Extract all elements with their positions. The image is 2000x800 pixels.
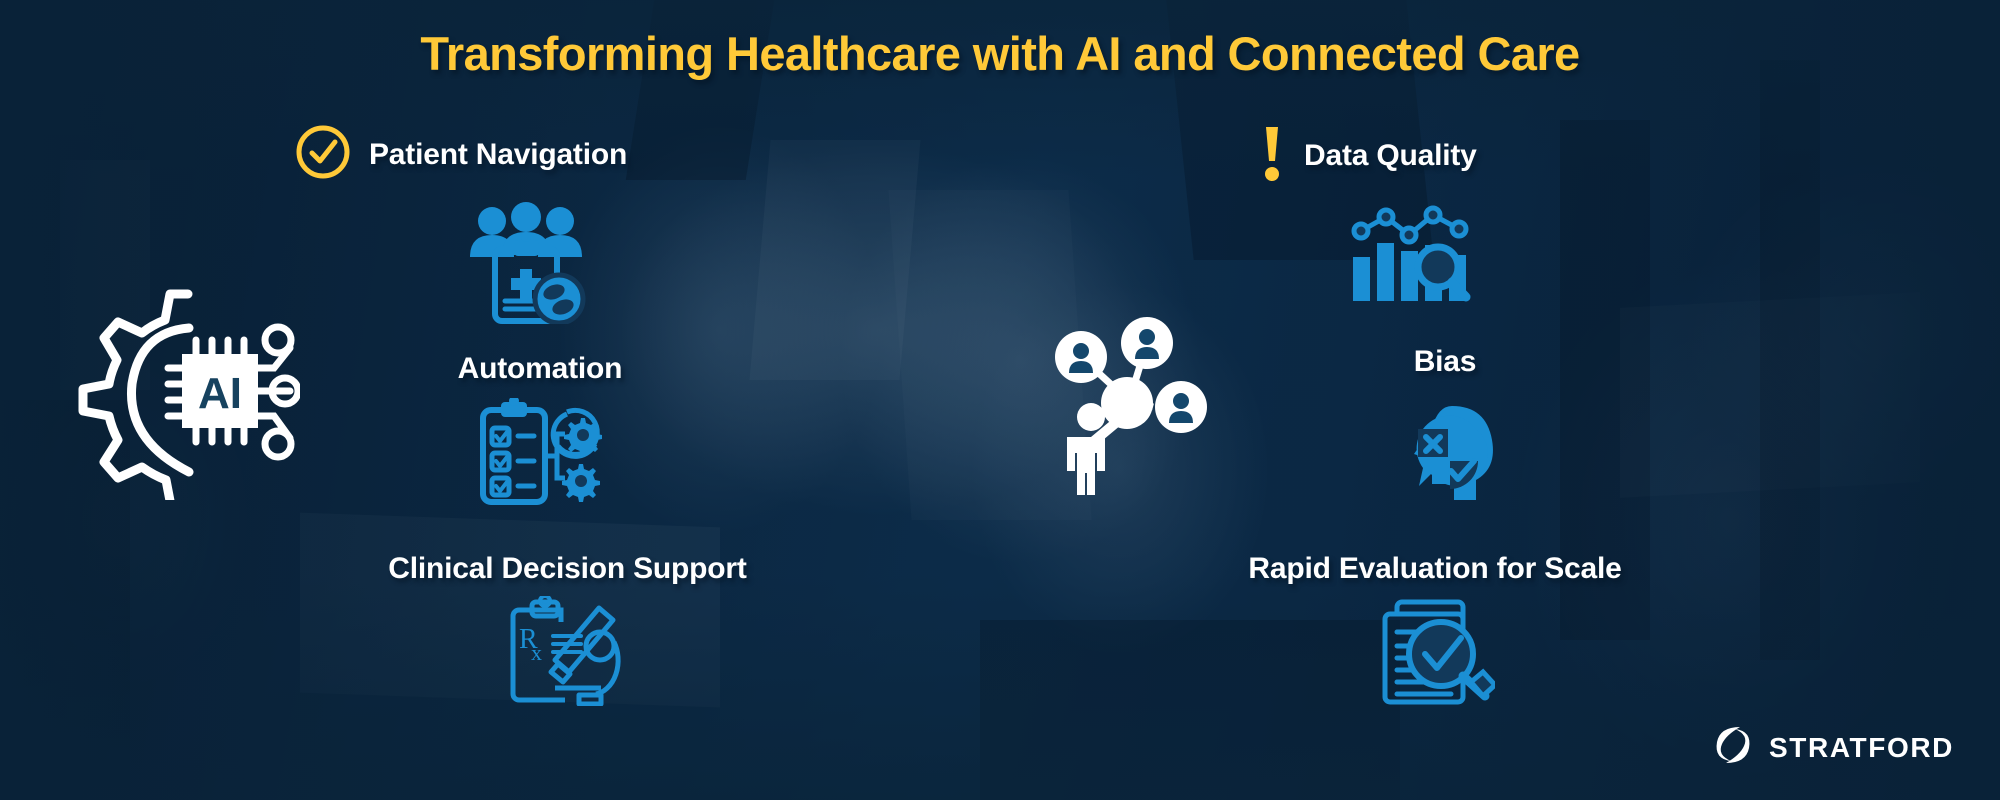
checklist-gears-icon [475, 398, 605, 513]
background-vignette [0, 0, 2000, 800]
ai-gear-chip-icon: AI [70, 280, 300, 505]
exclamation-mark-icon [1258, 124, 1286, 187]
connected-care-network-icon [1035, 315, 1220, 500]
bar-chart-magnifier-icon [1341, 205, 1471, 310]
block-clinical-decision-support: Clinical Decision Support R x [330, 552, 805, 711]
patient-navigation-head: Patient Navigation [295, 124, 627, 185]
block-automation: Automation [400, 352, 680, 513]
patient-navigation-label: Patient Navigation [369, 138, 627, 172]
block-rapid-evaluation: Rapid Evaluation for Scale [1190, 552, 1680, 711]
rapid-evaluation-label: Rapid Evaluation for Scale [1190, 552, 1680, 586]
data-quality-head: Data Quality [1258, 124, 1477, 187]
block-bias: Bias [1340, 345, 1550, 521]
ai-chip-label: AI [198, 369, 242, 418]
bias-label: Bias [1340, 345, 1550, 379]
automation-label: Automation [400, 352, 680, 386]
patients-clipboard-pills-icon [464, 199, 589, 329]
block-patient-navigation: Patient Navigation [295, 124, 627, 329]
infographic-banner: Transforming Healthcare with AI and Conn… [0, 0, 2000, 800]
stratford-swirl-icon [1711, 723, 1755, 772]
clinical-decision-support-label: Clinical Decision Support [330, 552, 805, 586]
stratford-logo[interactable]: STRATFORD [1711, 723, 1954, 772]
document-check-magnifier-icon [1375, 596, 1495, 711]
block-data-quality: Data Quality [1258, 124, 1477, 310]
prescription-microscope-icon: R x [503, 596, 633, 711]
stratford-logo-text: STRATFORD [1769, 732, 1954, 764]
check-circle-icon [295, 124, 351, 185]
page-title: Transforming Healthcare with AI and Conn… [0, 26, 2000, 81]
data-quality-label: Data Quality [1304, 139, 1477, 173]
head-bias-bubbles-icon [1390, 401, 1500, 521]
svg-text:x: x [531, 640, 542, 665]
